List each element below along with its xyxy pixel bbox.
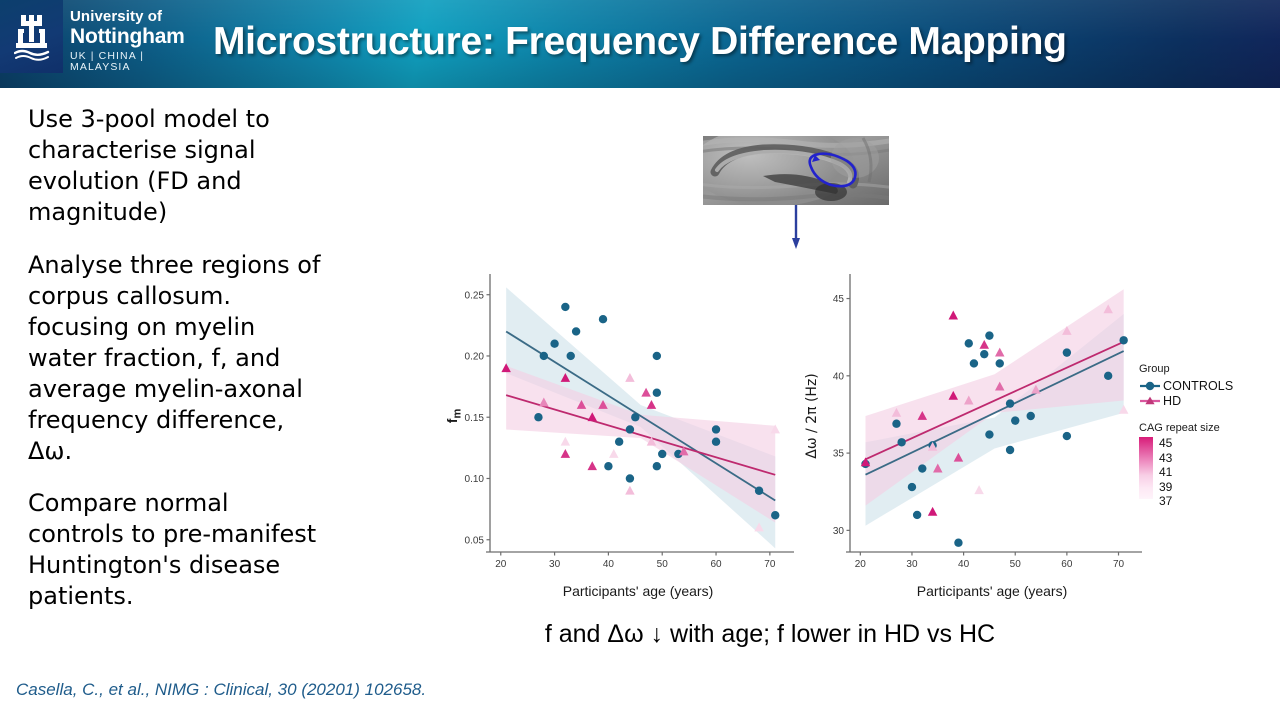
- chart-fm-vs-age: 0.050.100.150.200.25203040506070Particip…: [444, 268, 794, 600]
- data-point-controls: [653, 462, 661, 470]
- data-point-controls: [1011, 416, 1019, 424]
- chart-right-content: 30354045203040506070Participants' age (y…: [804, 274, 1142, 599]
- data-point-controls: [604, 462, 612, 470]
- x-axis-label: Participants' age (years): [563, 583, 714, 599]
- cag-tick: 39: [1159, 481, 1172, 493]
- svg-text:fm: fm: [444, 409, 464, 424]
- x-tick-label: 20: [495, 559, 507, 570]
- bullet-item: Compare normal controls to pre-manifest …: [28, 488, 328, 612]
- data-point-controls: [897, 438, 905, 446]
- data-point-controls: [954, 539, 962, 547]
- data-point-controls: [1063, 432, 1071, 440]
- slide-header: University of Nottingham UK | CHINA | MA…: [0, 0, 1280, 88]
- legend-item-controls[interactable]: CONTROLS: [1139, 378, 1277, 393]
- cag-colorbar-group[interactable]: 45 43 41 39 37: [1139, 437, 1277, 507]
- bullet-item: Use 3-pool model to characterise signal …: [28, 104, 328, 228]
- data-point-controls: [970, 359, 978, 367]
- y-tick-label: 30: [833, 526, 845, 537]
- page-title: Microstructure: Frequency Difference Map…: [213, 20, 1233, 64]
- x-tick-label: 20: [855, 559, 867, 570]
- data-point-controls: [1104, 372, 1112, 380]
- data-point-hd: [641, 388, 651, 397]
- cag-tick: 43: [1159, 452, 1172, 464]
- cag-tick: 41: [1159, 466, 1172, 478]
- y-axis-label: Δω / 2π (Hz): [804, 373, 820, 459]
- data-point-controls: [965, 339, 973, 347]
- data-point-controls: [1063, 348, 1071, 356]
- cag-tick: 37: [1159, 495, 1172, 507]
- data-point-controls: [658, 450, 666, 458]
- data-point-controls: [1027, 412, 1035, 420]
- legend-group-title: Group: [1139, 363, 1277, 375]
- legend-circle-marker-icon: [1139, 379, 1161, 393]
- x-tick-label: 30: [549, 559, 561, 570]
- data-point-hd: [949, 311, 959, 320]
- legend-item-hd[interactable]: HD: [1139, 393, 1277, 408]
- data-point-hd: [609, 449, 619, 458]
- x-tick-label: 40: [603, 559, 615, 570]
- data-point-controls: [567, 352, 575, 360]
- y-tick-label: 0.10: [465, 474, 485, 485]
- figure-caption: f and Δω ↓ with age; f lower in HD vs HC: [440, 620, 1100, 649]
- x-tick-label: 30: [906, 559, 918, 570]
- cag-tick: 45: [1159, 437, 1172, 449]
- data-point-controls: [550, 340, 558, 348]
- x-tick-label: 50: [657, 559, 669, 570]
- cag-colorbar: [1139, 437, 1153, 499]
- data-point-controls: [653, 389, 661, 397]
- data-point-hd: [647, 400, 657, 409]
- data-point-controls: [913, 511, 921, 519]
- legend-label-hd: HD: [1163, 394, 1181, 408]
- x-tick-label: 60: [710, 559, 722, 570]
- legend-label-controls: CONTROLS: [1163, 379, 1233, 393]
- data-point-controls: [631, 413, 639, 421]
- data-point-controls: [908, 483, 916, 491]
- legend-triangle-marker-icon: [1139, 394, 1161, 408]
- data-point-hd: [995, 348, 1005, 357]
- logo-line-nottingham: Nottingham: [70, 26, 185, 47]
- y-tick-label: 0.20: [465, 352, 485, 363]
- logo-line-campuses: UK | CHINA | MALAYSIA: [70, 51, 185, 72]
- data-point-controls: [626, 474, 634, 482]
- x-tick-label: 70: [764, 559, 776, 570]
- data-point-controls: [985, 331, 993, 339]
- citation-reference: Casella, C., et al., NIMG : Clinical, 30…: [16, 680, 426, 700]
- data-point-controls: [918, 464, 926, 472]
- y-tick-label: 40: [833, 371, 845, 382]
- data-point-controls: [1006, 399, 1014, 407]
- x-tick-label: 50: [1010, 559, 1022, 570]
- data-point-controls: [615, 438, 623, 446]
- data-point-controls: [534, 413, 542, 421]
- x-tick-label: 60: [1061, 559, 1073, 570]
- data-point-hd: [561, 449, 571, 458]
- bullet-list: Use 3-pool model to characterise signal …: [28, 104, 328, 612]
- chart-domega-vs-age: 30354045203040506070Participants' age (y…: [802, 268, 1142, 600]
- data-point-hd: [980, 340, 990, 349]
- data-point-controls: [985, 430, 993, 438]
- y-tick-label: 0.05: [465, 535, 485, 546]
- x-tick-label: 40: [958, 559, 970, 570]
- bullet-item: Analyse three regions of corpus callosum…: [28, 250, 328, 467]
- data-point-controls: [599, 315, 607, 323]
- data-point-controls: [572, 327, 580, 335]
- x-tick-label: 70: [1113, 559, 1125, 570]
- chart-left-content: 0.050.100.150.200.25203040506070Particip…: [444, 274, 794, 599]
- university-logo-block: University of Nottingham UK | CHINA | MA…: [0, 0, 63, 73]
- data-point-controls: [626, 425, 634, 433]
- data-point-hd: [928, 507, 938, 516]
- x-axis-label: Participants' age (years): [917, 583, 1068, 599]
- data-point-hd: [625, 373, 635, 382]
- cag-colorbar-ticks: 45 43 41 39 37: [1159, 437, 1172, 507]
- data-point-controls: [1006, 446, 1014, 454]
- data-point-controls: [980, 350, 988, 358]
- confidence-band-hd: [865, 289, 1123, 505]
- data-point-hd: [974, 485, 984, 494]
- y-axis-label: fm: [444, 409, 464, 424]
- data-point-hd: [588, 461, 598, 470]
- university-logo-text: University of Nottingham UK | CHINA | MA…: [70, 9, 185, 72]
- data-point-controls: [1119, 336, 1127, 344]
- y-tick-label: 0.25: [465, 290, 485, 301]
- y-tick-label: 0.15: [465, 413, 485, 424]
- legend-spacer: [1139, 408, 1277, 422]
- legend-cag-title: CAG repeat size: [1139, 422, 1277, 434]
- slide-root: University of Nottingham UK | CHINA | MA…: [0, 0, 1280, 720]
- sagittal-brain-mri-image: [703, 136, 889, 205]
- data-point-controls: [712, 425, 720, 433]
- data-point-controls: [561, 303, 569, 311]
- y-tick-label: 35: [833, 449, 845, 460]
- data-point-controls: [755, 487, 763, 495]
- y-tick-label: 45: [833, 294, 845, 305]
- brain-mri-figure: [703, 136, 889, 205]
- data-point-controls: [540, 352, 548, 360]
- data-point-controls: [712, 438, 720, 446]
- data-point-controls: [771, 511, 779, 519]
- chart-legend: Group CONTROLS HD CAG repeat size 45 43 …: [1139, 363, 1277, 507]
- nottingham-castle-crest-icon: [14, 12, 52, 62]
- data-point-hd: [625, 486, 635, 495]
- pointer-arrow-down: [703, 205, 889, 250]
- data-point-controls: [892, 420, 900, 428]
- data-point-controls: [653, 352, 661, 360]
- svg-text:Δω / 2π (Hz): Δω / 2π (Hz): [804, 373, 820, 459]
- data-point-controls: [996, 359, 1004, 367]
- data-point-hd: [561, 437, 571, 446]
- logo-line-university: University of: [70, 9, 185, 24]
